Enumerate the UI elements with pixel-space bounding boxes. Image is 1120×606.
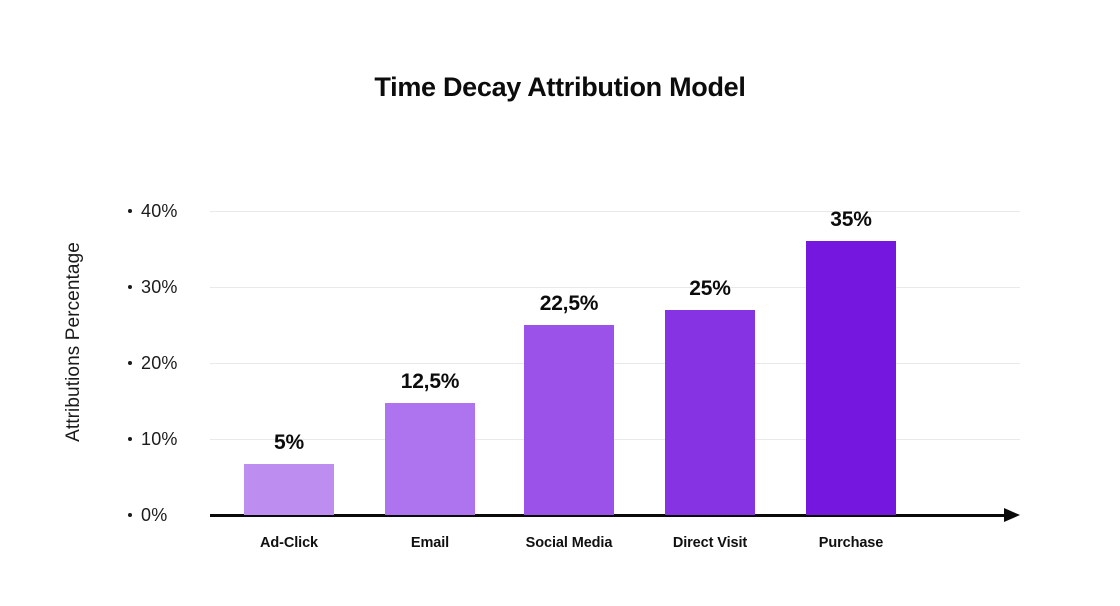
tick-dot-icon bbox=[128, 437, 132, 441]
chart-container: Time Decay Attribution Model Attribution… bbox=[0, 0, 1120, 606]
y-axis-tick-label: 40% bbox=[141, 201, 178, 222]
y-axis-tick-label: 20% bbox=[141, 353, 178, 374]
y-axis-title: Attributions Percentage bbox=[61, 0, 87, 192]
y-axis-tick: 20% bbox=[128, 352, 178, 374]
tick-dot-icon bbox=[128, 513, 132, 517]
y-axis-tick: 30% bbox=[128, 276, 178, 298]
gridline bbox=[210, 439, 1020, 440]
gridline bbox=[210, 287, 1020, 288]
bar-value-label: 5% bbox=[274, 431, 304, 455]
gridline bbox=[210, 211, 1020, 212]
bar[interactable]: 25% bbox=[665, 310, 755, 515]
bar[interactable]: 12,5% bbox=[385, 403, 475, 515]
y-axis-tick-label: 30% bbox=[141, 277, 178, 298]
bar[interactable]: 22,5% bbox=[524, 325, 614, 515]
tick-dot-icon bbox=[128, 209, 132, 213]
y-axis-tick-label: 0% bbox=[141, 505, 167, 526]
x-axis-arrow-icon bbox=[1004, 508, 1020, 522]
bar-value-label: 25% bbox=[689, 277, 730, 301]
gridline bbox=[210, 363, 1020, 364]
y-axis-tick: 40% bbox=[128, 200, 178, 222]
y-axis-tick: 10% bbox=[128, 428, 178, 450]
bar[interactable]: 5% bbox=[244, 464, 334, 515]
bar-value-label: 22,5% bbox=[540, 292, 599, 316]
y-axis-tick-label: 10% bbox=[141, 429, 178, 450]
bar-value-label: 35% bbox=[830, 208, 871, 232]
tick-dot-icon bbox=[128, 361, 132, 365]
bar-value-label: 12,5% bbox=[401, 370, 460, 394]
y-axis-tick: 0% bbox=[128, 504, 167, 526]
bar[interactable]: 35% bbox=[806, 241, 896, 515]
x-axis-category-label: Purchase bbox=[751, 535, 951, 551]
tick-dot-icon bbox=[128, 285, 132, 289]
chart-title: Time Decay Attribution Model bbox=[0, 72, 1120, 103]
y-axis-title-label: Attributions Percentage bbox=[61, 192, 87, 492]
